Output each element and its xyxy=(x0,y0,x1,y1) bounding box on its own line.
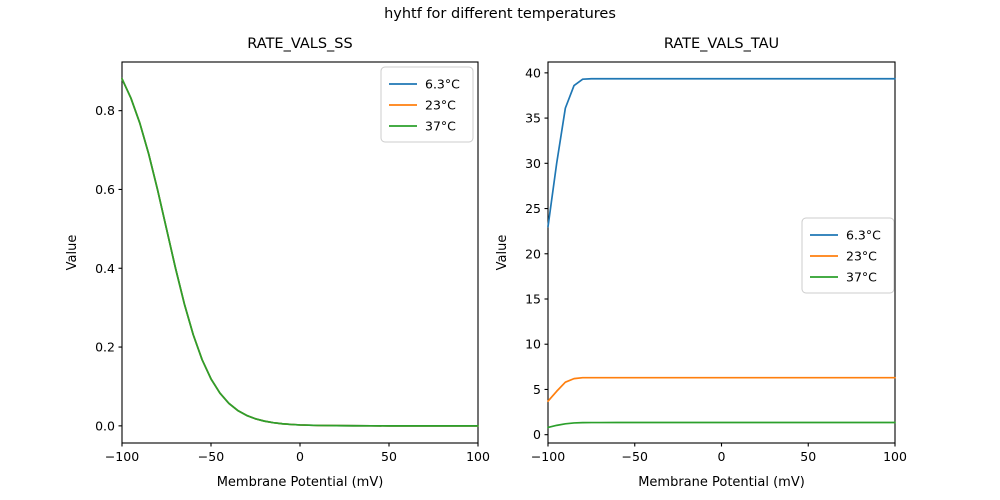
x-tick-label: 50 xyxy=(381,449,397,464)
legend-label: 37°C xyxy=(425,119,456,134)
x-tick-label: 50 xyxy=(800,449,816,464)
axes-right: −100−500501000510152025303540Membrane Po… xyxy=(495,62,907,490)
plots-canvas: −100−500501000.00.20.40.60.8Membrane Pot… xyxy=(0,0,1000,500)
data-line-63C xyxy=(548,79,895,227)
legend-label: 37°C xyxy=(846,270,877,285)
data-line-23C xyxy=(548,378,895,402)
x-tick-label: −50 xyxy=(622,449,648,464)
y-tick-label: 35 xyxy=(525,111,541,126)
y-tick-label: 25 xyxy=(525,201,541,216)
y-tick-label: 0.0 xyxy=(95,418,115,433)
y-tick-label: 0.2 xyxy=(95,340,115,355)
y-axis-label: Value xyxy=(495,235,510,271)
legend-label: 23°C xyxy=(846,249,877,264)
matplotlib-figure: hyhtf for different temperatures RATE_VA… xyxy=(0,0,1000,500)
y-tick-label: 30 xyxy=(525,156,541,171)
x-axis-label: Membrane Potential (mV) xyxy=(638,475,805,490)
x-tick-label: 0 xyxy=(718,449,726,464)
y-axis-label: Value xyxy=(65,235,80,271)
x-tick-label: −100 xyxy=(531,449,565,464)
x-tick-label: −100 xyxy=(105,449,139,464)
y-tick-label: 10 xyxy=(525,337,541,352)
x-axis-label: Membrane Potential (mV) xyxy=(217,475,384,490)
y-tick-label: 0.4 xyxy=(95,261,115,276)
legend-label: 23°C xyxy=(425,98,456,113)
y-tick-label: 20 xyxy=(525,246,541,261)
legend-label: 6.3°C xyxy=(846,228,881,243)
y-tick-label: 0 xyxy=(533,427,541,442)
x-tick-label: 100 xyxy=(883,449,907,464)
axes-left: −100−500501000.00.20.40.60.8Membrane Pot… xyxy=(65,62,490,490)
x-tick-label: −50 xyxy=(198,449,224,464)
x-tick-label: 0 xyxy=(296,449,304,464)
y-tick-label: 40 xyxy=(525,65,541,80)
y-tick-label: 0.8 xyxy=(95,103,115,118)
legend-label: 6.3°C xyxy=(425,77,460,92)
y-tick-label: 0.6 xyxy=(95,182,115,197)
x-tick-label: 100 xyxy=(466,449,490,464)
data-line-37C xyxy=(548,422,895,427)
y-tick-label: 5 xyxy=(533,382,541,397)
y-tick-label: 15 xyxy=(525,291,541,306)
